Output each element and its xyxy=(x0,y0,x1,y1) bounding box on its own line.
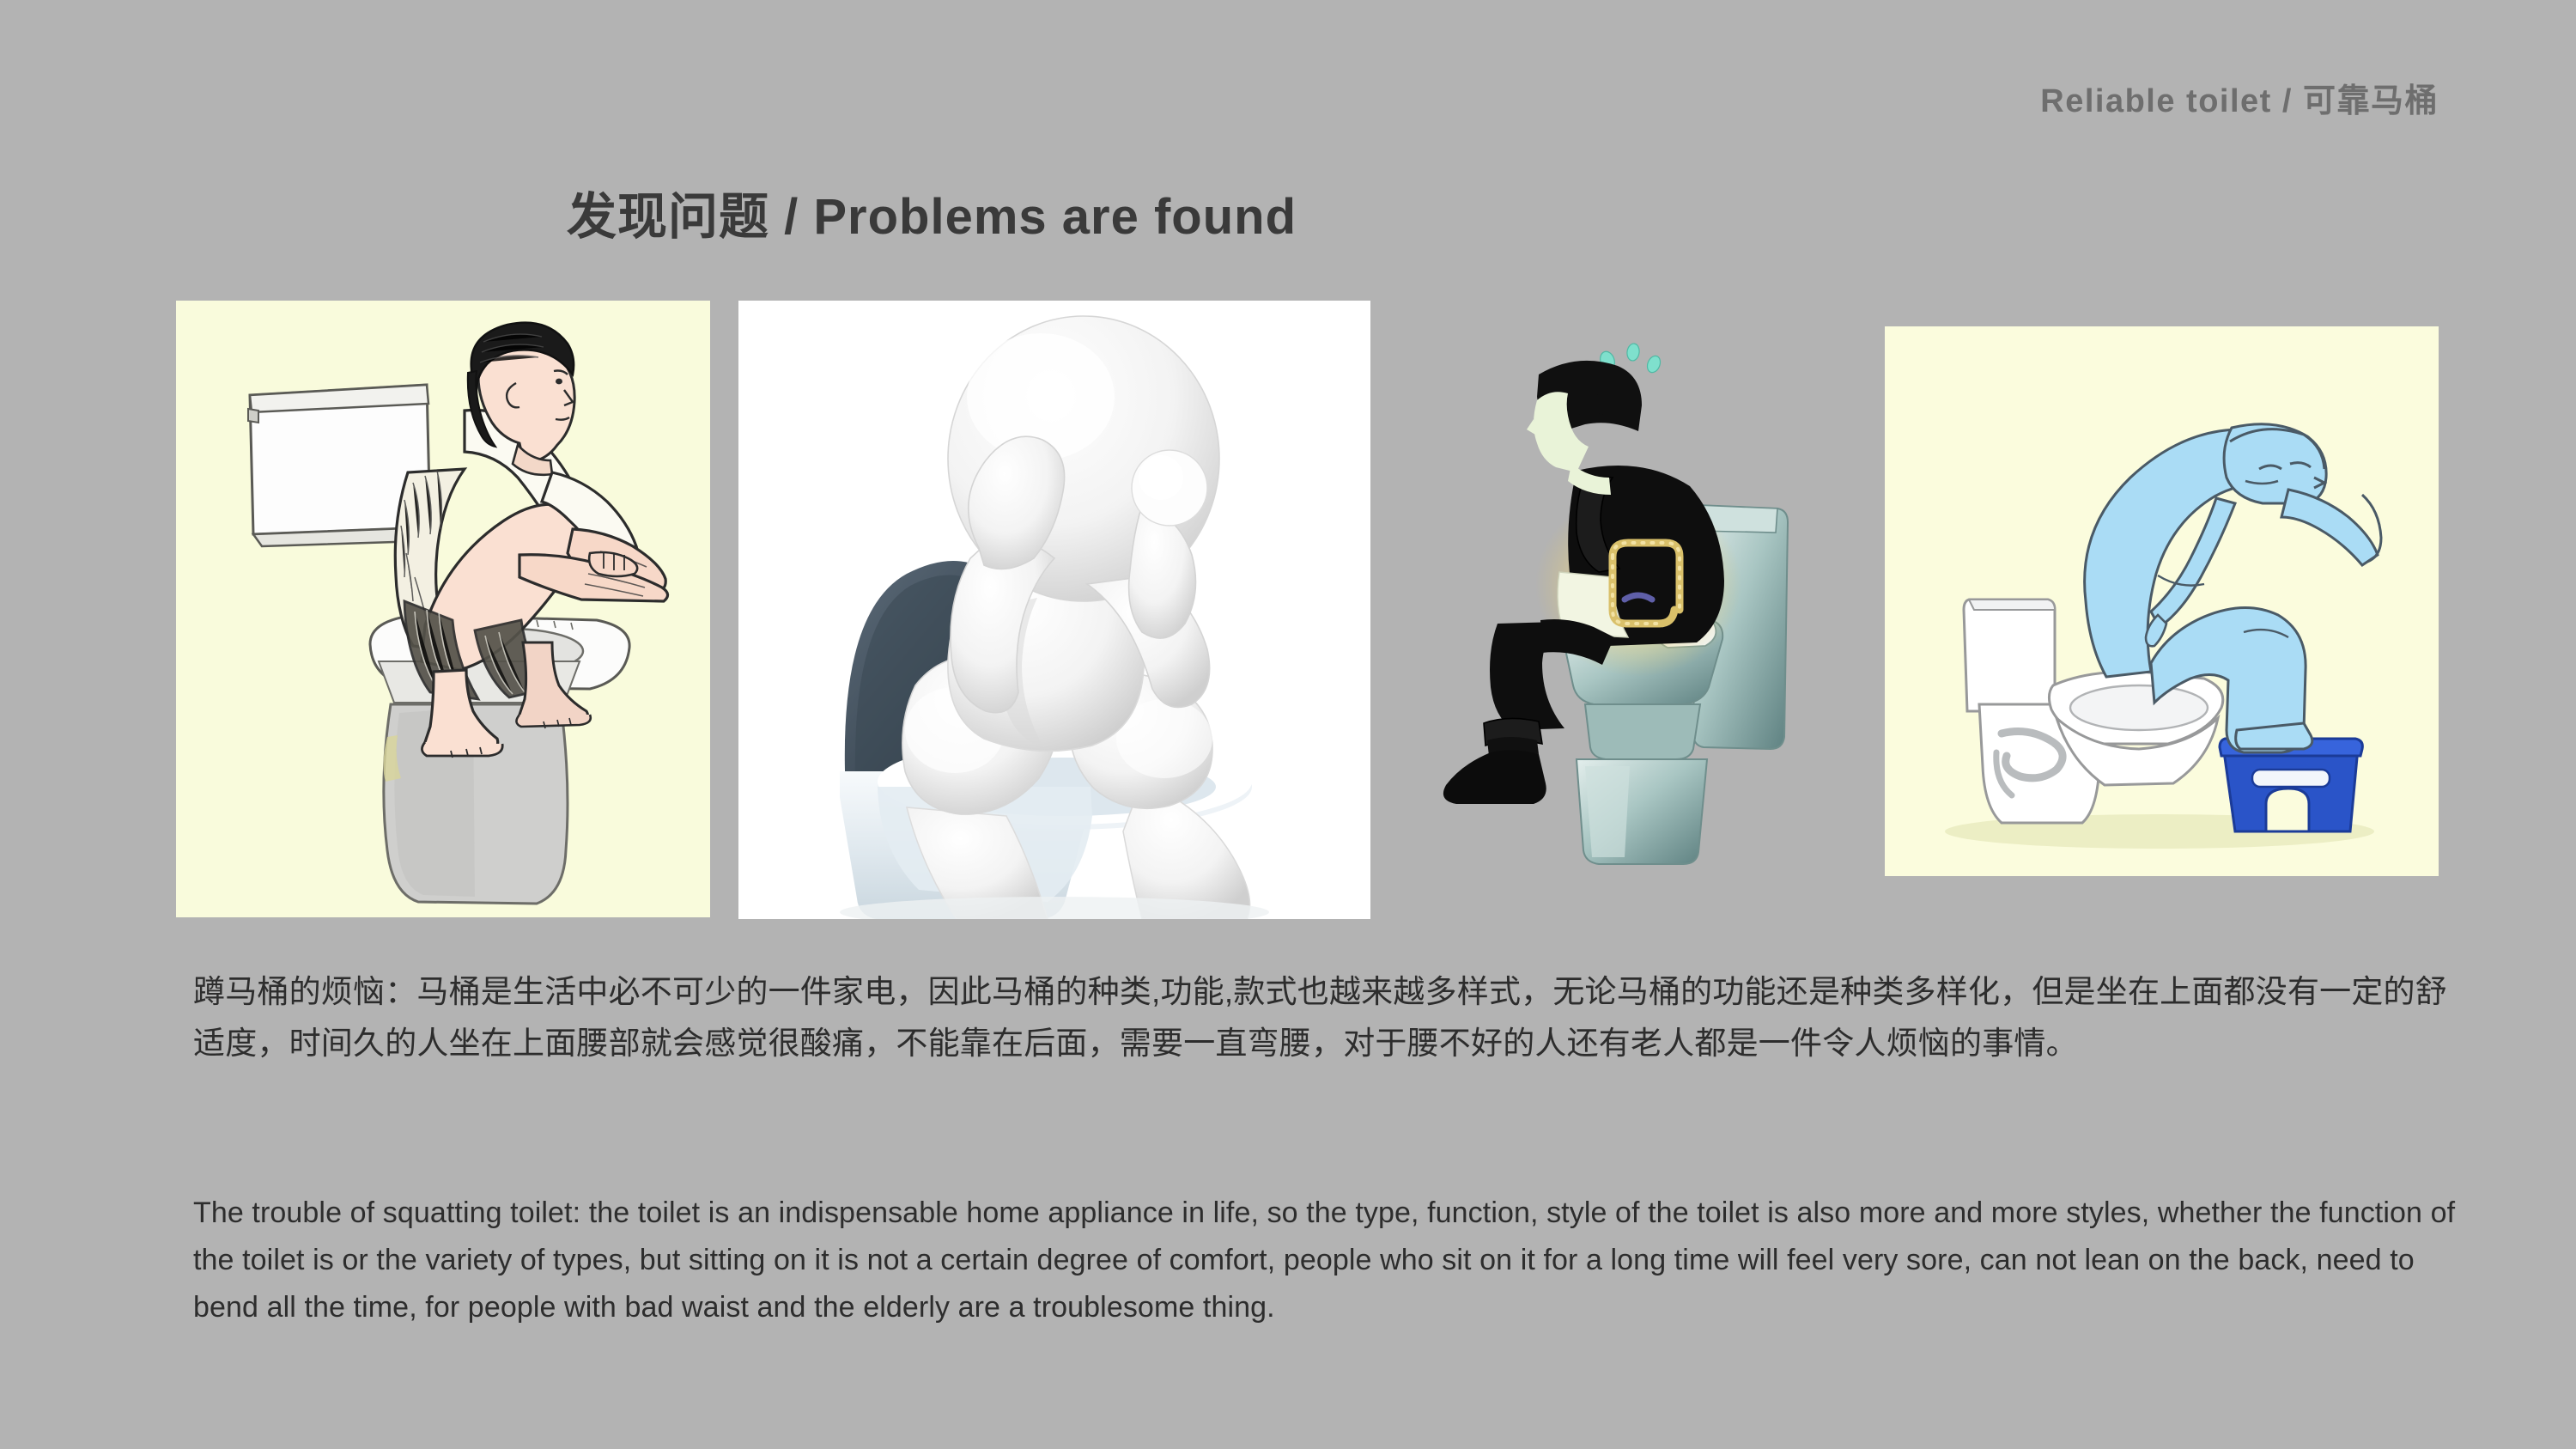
man-squatting-on-western-toilet-sketch-illustration xyxy=(176,301,710,917)
blue-figure-squatting-with-step-stool-illustration xyxy=(1885,326,2439,876)
gallery-image-blue-figure-step-stool[interactable] xyxy=(1885,326,2439,876)
gallery-image-man-glowing-intestines[interactable] xyxy=(1408,326,1838,876)
man-with-glowing-intestines-on-toilet-illustration xyxy=(1408,326,1838,876)
paragraph-english: The trouble of squatting toilet: the toi… xyxy=(193,1190,2460,1331)
paragraph-chinese: 蹲马桶的烦恼：马桶是生活中必不可少的一件家电，因此马桶的种类,功能,款式也越来越… xyxy=(193,966,2460,1069)
slide-header-label: Reliable toilet / 可靠马桶 xyxy=(2040,74,2439,121)
gallery-image-man-squatting-sketch[interactable] xyxy=(176,301,710,917)
gallery-image-3d-mannequin-frustrated[interactable] xyxy=(738,301,1370,919)
3d-mannequin-frustrated-on-toilet-illustration xyxy=(738,301,1370,919)
image-gallery xyxy=(0,301,2576,928)
page-title: 发现问题 / Problems are found xyxy=(0,176,1863,248)
